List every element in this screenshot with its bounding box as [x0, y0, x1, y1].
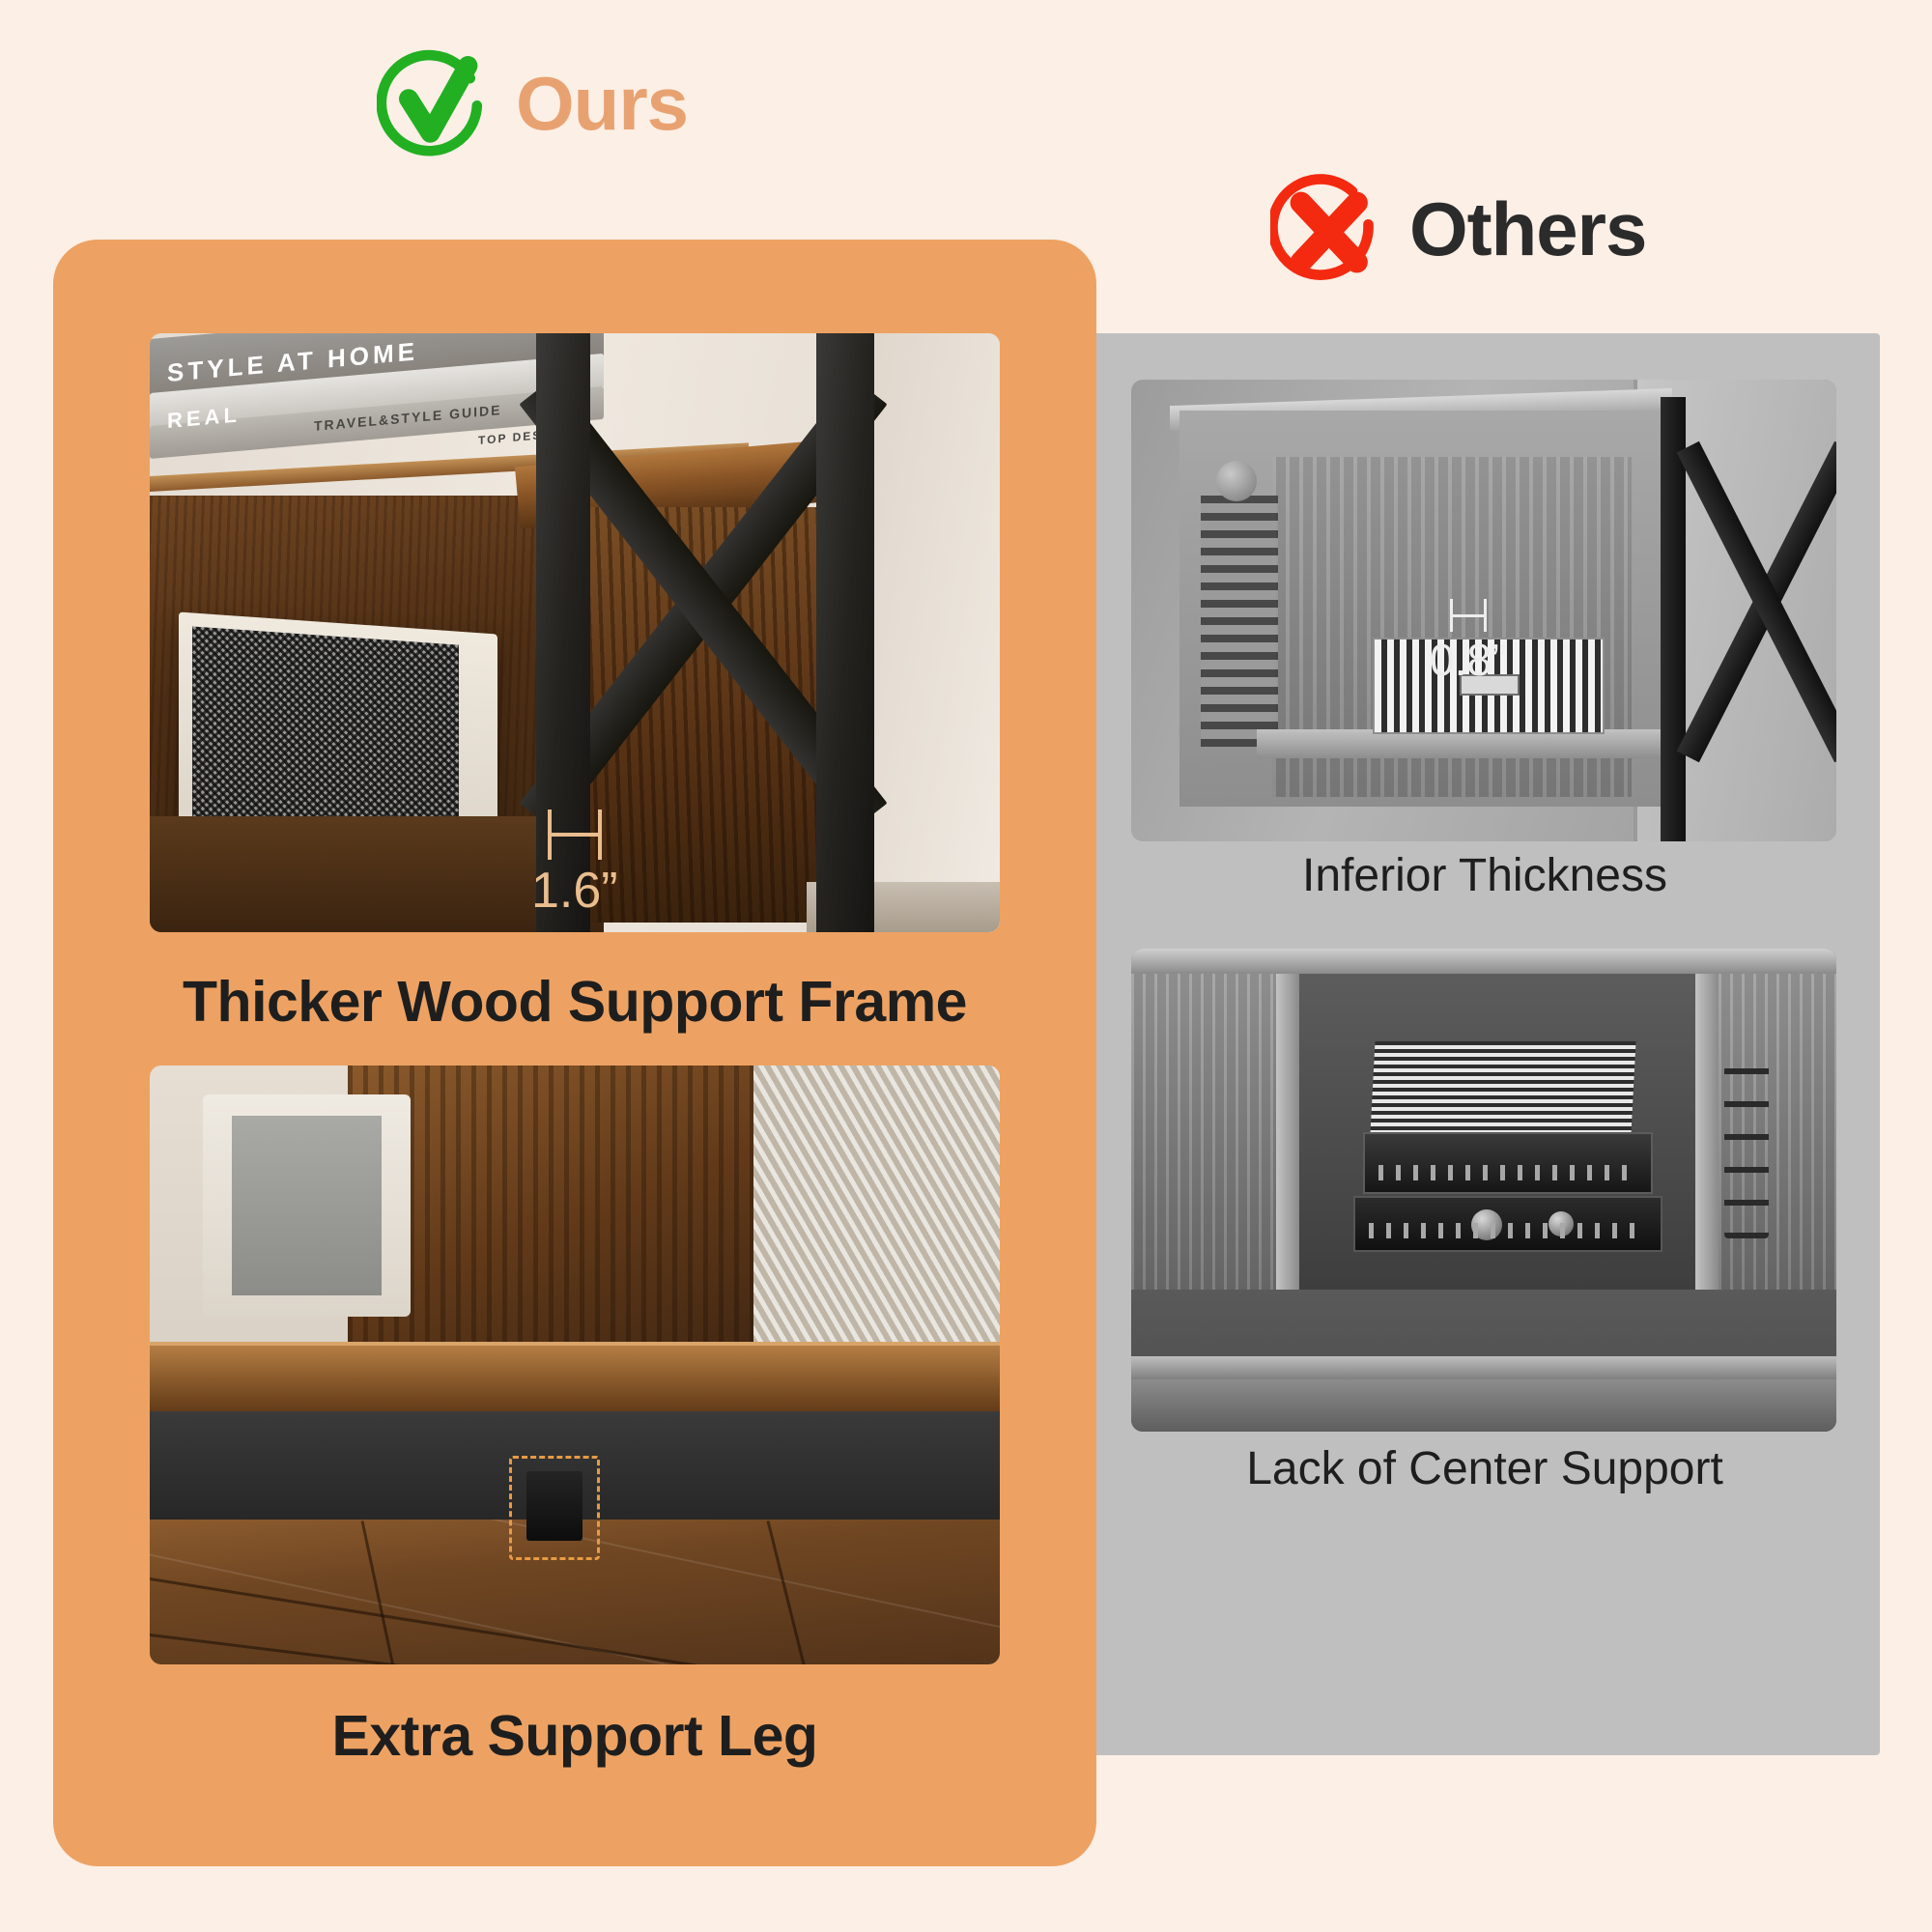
book-stack: STYLE AT HOME REAL TRAVEL&STYLE GUIDE TO… — [159, 333, 575, 502]
infographic-canvas: Ours Others — [0, 0, 1932, 1932]
x-circle-icon — [1270, 172, 1384, 286]
highlight-box — [509, 1456, 600, 1560]
dimension-arrow-icon — [1450, 599, 1487, 632]
ours-caption-2: Extra Support Leg — [53, 1708, 1096, 1765]
textured-wall-panel — [753, 1065, 1000, 1355]
cabinet-divider-right — [1695, 956, 1719, 1290]
decor-picture-frame — [203, 1094, 411, 1317]
ours-label: Ours — [516, 66, 688, 141]
cabinet-divider-left — [1276, 956, 1299, 1290]
others-caption-2: Lack of Center Support — [1090, 1446, 1880, 1492]
floor-plank-seam — [361, 1520, 437, 1664]
others-caption-1: Inferior Thickness — [1090, 853, 1880, 899]
receiver-controls — [1369, 1223, 1647, 1238]
others-photo-lack-center-support — [1131, 949, 1836, 1432]
cabinet-knob — [1216, 461, 1257, 501]
wood-shelf — [150, 1346, 1000, 1413]
thickness-dimension-others: 0.8” — [1430, 599, 1506, 682]
x-brace-frame — [1672, 418, 1836, 785]
dimension-arrow-icon — [548, 810, 602, 860]
av-receiver-top — [1363, 1132, 1653, 1194]
stacked-discs — [1370, 1041, 1635, 1134]
media-rack — [1201, 496, 1278, 747]
picture-frame-inner — [232, 1116, 382, 1295]
floor-plank-seam — [767, 1520, 839, 1664]
check-circle-icon — [377, 46, 491, 160]
ours-photo-extra-leg — [150, 1065, 1000, 1664]
cabinet-shelf — [1131, 1356, 1836, 1381]
ours-header: Ours — [377, 46, 688, 160]
others-header: Others — [1270, 172, 1646, 286]
sagging-top-edge — [1131, 949, 1836, 974]
ours-caption-1: Thicker Wood Support Frame — [53, 974, 1096, 1031]
cable-holes — [1724, 1065, 1769, 1238]
floor-plank-seam — [150, 1634, 1000, 1664]
av-receiver-bottom — [1353, 1196, 1662, 1252]
cabinet-side-left — [1131, 956, 1276, 1290]
receiver-controls — [1378, 1165, 1637, 1180]
ours-panel: STYLE AT HOME REAL TRAVEL&STYLE GUIDE TO… — [53, 240, 1096, 1866]
others-label: Others — [1409, 191, 1646, 267]
cabinet-base — [1131, 1379, 1836, 1432]
support-post-right — [816, 333, 874, 932]
others-panel: 0.8” Inferior Thickness — [1090, 333, 1880, 1755]
thickness-value-others: 0.8” — [1430, 638, 1506, 682]
thickness-dimension-ours: 1.6” — [531, 810, 618, 916]
cabinet-body — [1179, 411, 1662, 807]
thickness-value-ours: 1.6” — [531, 866, 618, 916]
